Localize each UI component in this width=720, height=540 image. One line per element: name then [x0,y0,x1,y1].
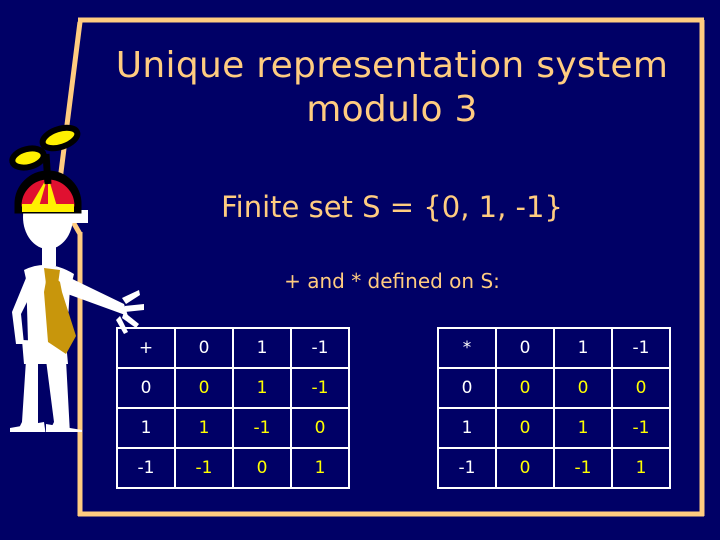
table-row: + 0 1 -1 [117,328,349,368]
table-header-cell: -1 [612,328,670,368]
table-cell: 0 [291,408,349,448]
table-cell: 0 [496,448,554,488]
table-cell: 1 [291,448,349,488]
table-header-cell: -1 [291,328,349,368]
table-cell: 0 [554,368,612,408]
table-row: 0 0 1 -1 [117,368,349,408]
table-cell: 0 [612,368,670,408]
table-cell: 0 [233,448,291,488]
table-cell: 0 [175,368,233,408]
table-row-label: 1 [438,408,496,448]
table-cell: 1 [612,448,670,488]
figure-right-leg [46,360,70,432]
beanie-brim-stripe [22,204,74,212]
table-row: 1 1 -1 0 [117,408,349,448]
table-cell: 1 [175,408,233,448]
table-row-label: -1 [117,448,175,488]
addition-table: + 0 1 -1 0 0 1 -1 1 1 -1 0 -1 -1 0 1 [116,327,350,489]
propeller-stem [46,154,48,184]
propeller-beanie-group [10,124,80,212]
table-cell: -1 [233,408,291,448]
table-row-label: 0 [117,368,175,408]
table-row: -1 0 -1 1 [438,448,670,488]
table-row-label: 0 [438,368,496,408]
table-cell: 1 [554,408,612,448]
slide-caption: + and * defined on S: [92,268,692,294]
table-row-label: -1 [438,448,496,488]
slide-subtitle: Finite set S = {0, 1, -1} [92,190,692,224]
addition-table-body: + 0 1 -1 0 0 1 -1 1 1 -1 0 -1 -1 0 1 [117,328,349,488]
propeller-blade-left [10,145,45,170]
table-cell: -1 [175,448,233,488]
multiplication-table: * 0 1 -1 0 0 0 0 1 0 1 -1 -1 0 -1 1 [437,327,671,489]
page-title-line-2: modulo 3 [92,88,692,132]
table-header-cell: + [117,328,175,368]
page-title: Unique representation system modulo 3 [92,44,692,132]
figure-left-leg [16,360,38,432]
table-header-cell: 1 [233,328,291,368]
table-row: * 0 1 -1 [438,328,670,368]
table-header-cell: 0 [175,328,233,368]
table-cell: 0 [496,368,554,408]
figure-tie-knot [44,268,60,284]
figure-finger-2 [125,304,144,312]
table-header-cell: 0 [496,328,554,368]
table-cell: 1 [233,368,291,408]
table-row-label: 1 [117,408,175,448]
page-title-line-1: Unique representation system [92,44,692,88]
table-row: 0 0 0 0 [438,368,670,408]
table-row: 1 0 1 -1 [438,408,670,448]
table-header-cell: * [438,328,496,368]
table-cell: -1 [291,368,349,408]
table-cell: -1 [612,408,670,448]
slide-canvas: Unique representation system modulo 3 Fi… [0,0,720,540]
figure-neck [42,244,56,266]
table-row: -1 -1 0 1 [117,448,349,488]
table-cell: -1 [554,448,612,488]
table-cell: 0 [496,408,554,448]
propeller-blade-right [40,124,80,152]
multiplication-table-body: * 0 1 -1 0 0 0 0 1 0 1 -1 -1 0 -1 1 [438,328,670,488]
table-header-cell: 1 [554,328,612,368]
